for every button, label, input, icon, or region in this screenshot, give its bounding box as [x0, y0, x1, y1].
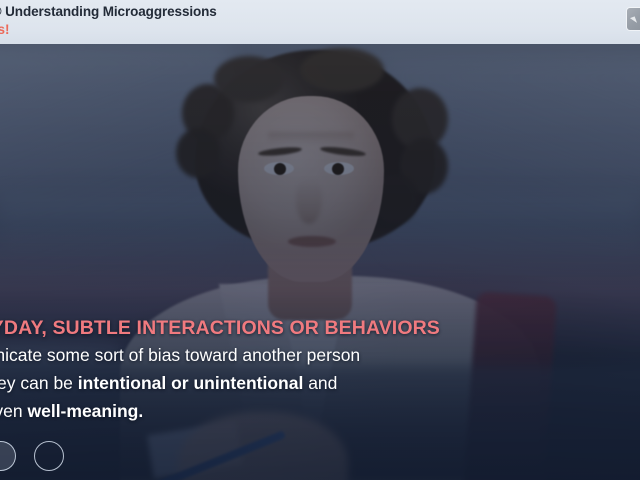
course-subtitle: at Hurts! — [0, 21, 640, 38]
caption-body-line-3: times even well-meaning. — [0, 399, 578, 424]
slide-caption: EVERYDAY, SUBTLE INTERACTIONS OR BEHAVIO… — [0, 316, 578, 424]
course-header-text-group: Briefs® Understanding Microaggressions a… — [0, 3, 640, 38]
caption-headline: EVERYDAY, SUBTLE INTERACTIONS OR BEHAVIO… — [0, 316, 578, 340]
caption-line-3-prefix: times even — [0, 401, 27, 421]
cursor-pointer-icon[interactable] — [627, 8, 640, 30]
video-stage[interactable]: EVERYDAY, SUBTLE INTERACTIONS OR BEHAVIO… — [0, 44, 640, 480]
pagination-dot-1[interactable] — [0, 441, 16, 471]
course-header-bar: Briefs® Understanding Microaggressions a… — [0, 0, 640, 44]
cursor-arrow-glyph — [630, 16, 637, 24]
pagination-dot-2[interactable] — [34, 441, 64, 471]
course-title: Briefs® Understanding Microaggressions — [0, 3, 640, 20]
caption-line-1-text: communicate some sort of bias toward ano… — [0, 345, 360, 365]
video-slide-viewport: Briefs® Understanding Microaggressions a… — [0, 0, 640, 480]
caption-line-2-prefix: oup. They can be — [0, 373, 78, 393]
caption-body-line-1: communicate some sort of bias toward ano… — [0, 343, 578, 368]
course-title-text: Briefs® Understanding Microaggressions — [0, 4, 217, 19]
caption-line-2-emphasis: intentional or unintentional — [78, 373, 304, 393]
pagination-dots — [0, 441, 64, 471]
caption-line-3-emphasis: well-meaning. — [27, 401, 143, 421]
caption-body-line-2: oup. They can be intentional or unintent… — [0, 371, 578, 396]
caption-line-2-suffix: and — [303, 373, 337, 393]
